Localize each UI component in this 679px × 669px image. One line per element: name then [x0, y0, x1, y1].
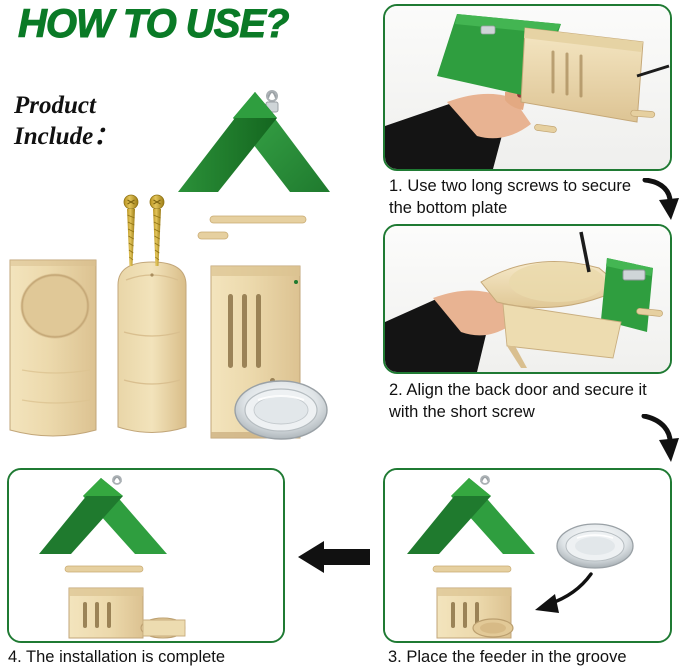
step-4-photo [7, 468, 285, 643]
step-4-illustration [9, 470, 283, 641]
parts-illustration [0, 70, 375, 460]
step-2-photo [383, 224, 672, 374]
step-1-photo [383, 4, 672, 171]
page-title: HOW TO USE? [18, 2, 288, 47]
arrow-left-icon [298, 540, 370, 574]
part-long-screw-1 [124, 195, 138, 266]
step-3-caption: 3. Place the feeder in the groove [388, 647, 678, 669]
curved-arrow-down-icon-2 [641, 414, 679, 464]
step-3-illustration [385, 470, 670, 641]
step-1-illustration [385, 6, 670, 169]
part-back-door [118, 262, 186, 433]
step-2-caption: 2. Align the back door and secure it wit… [389, 380, 651, 424]
step-1-caption: 1. Use two long screws to secure the bot… [389, 176, 651, 220]
curved-arrow-down-icon [641, 178, 679, 222]
part-metal-feeder-dish [235, 381, 327, 439]
parts-group [0, 70, 375, 460]
part-long-screw-2 [150, 195, 164, 266]
step-2-illustration [385, 226, 670, 372]
step-4-caption: 4. The installation is complete [8, 647, 278, 669]
part-bottom-plate [10, 260, 96, 436]
step-3-photo [383, 468, 672, 643]
feeder-dish [557, 524, 633, 568]
